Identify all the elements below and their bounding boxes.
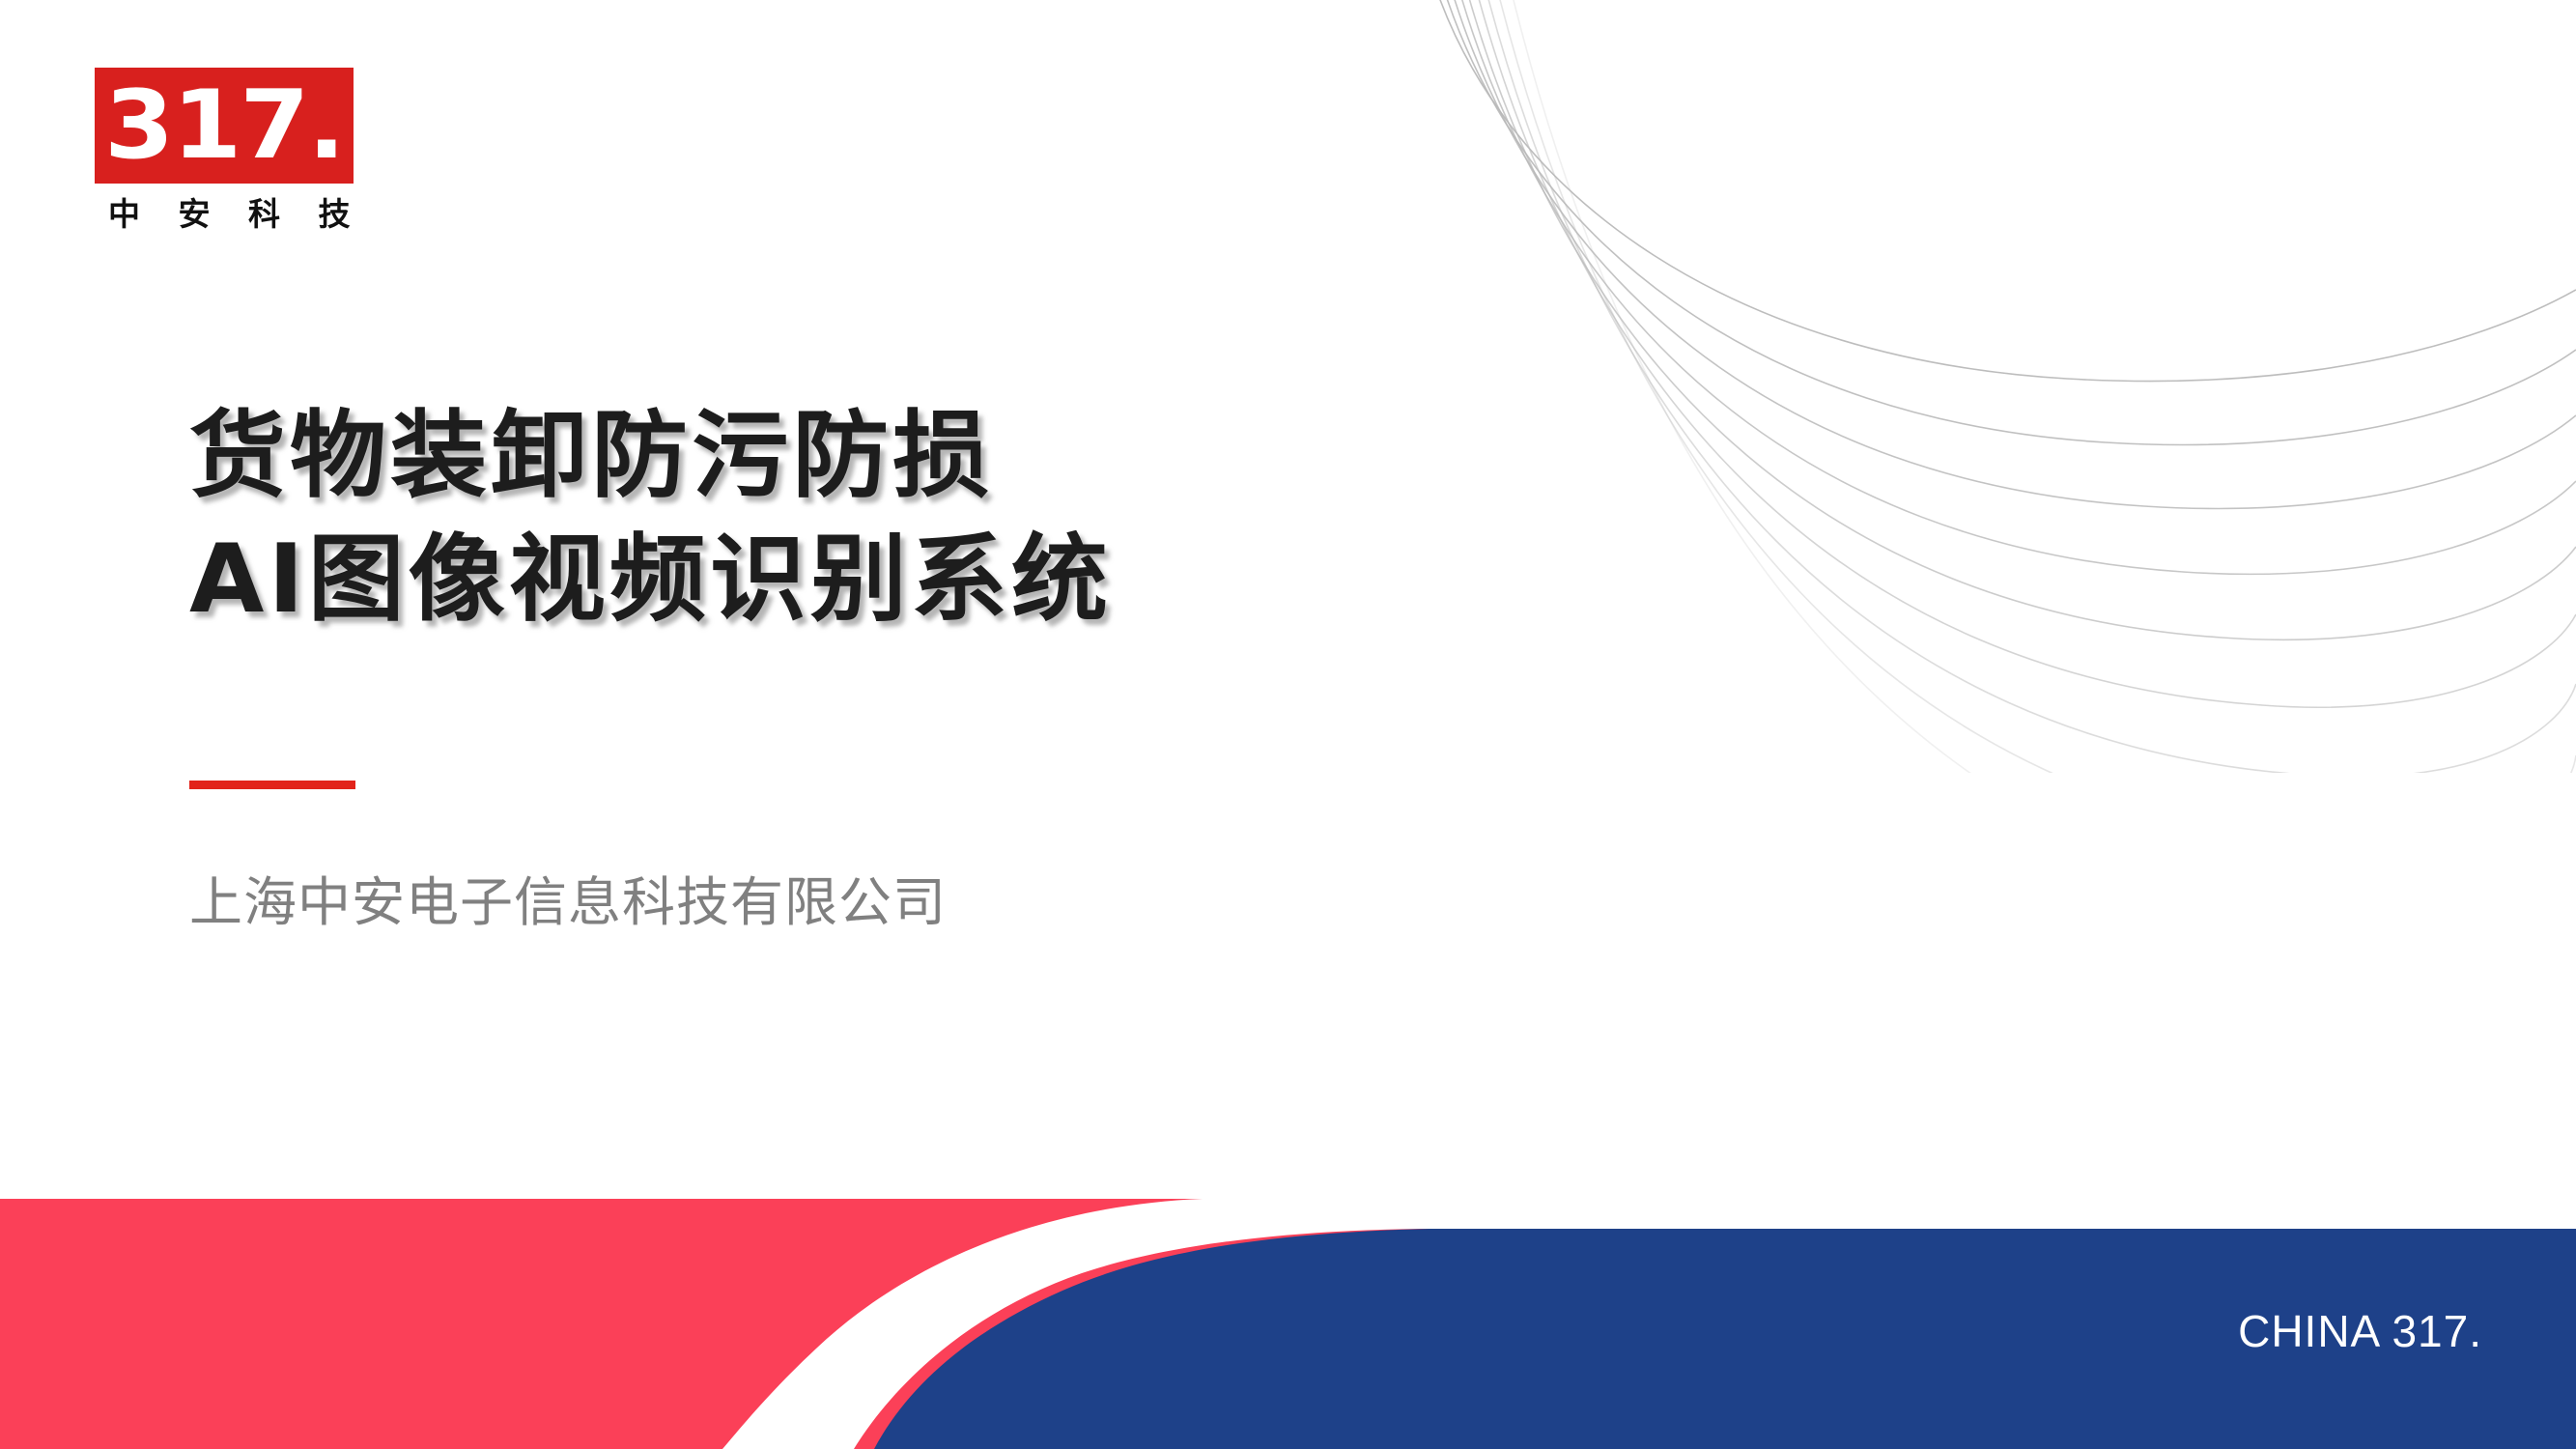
company-logo: 317. 中 安 科 技: [95, 68, 355, 234]
slide-canvas: 317. 中 安 科 技 货物装卸防污防损 AI图像视频识别系统 上海中安电子信…: [0, 0, 2576, 1449]
logo-mark: 317.: [95, 68, 354, 184]
footer-brand-text: CHINA 317.: [2238, 1304, 2482, 1358]
title-line-1: 货物装卸防污防损: [189, 394, 1569, 518]
subtitle-company-name: 上海中安电子信息科技有限公司: [189, 867, 947, 937]
footer-band: [0, 1194, 2576, 1449]
logo-company-short-name: 中 安 科 技: [95, 195, 354, 234]
decorative-curves: [1333, 0, 2576, 773]
logo-mark-text: 317.: [104, 77, 344, 174]
page-title: 货物装卸防污防损 AI图像视频识别系统: [189, 394, 1542, 641]
title-divider-rule: [189, 781, 355, 789]
title-line-2: AI图像视频识别系统: [189, 518, 1569, 641]
